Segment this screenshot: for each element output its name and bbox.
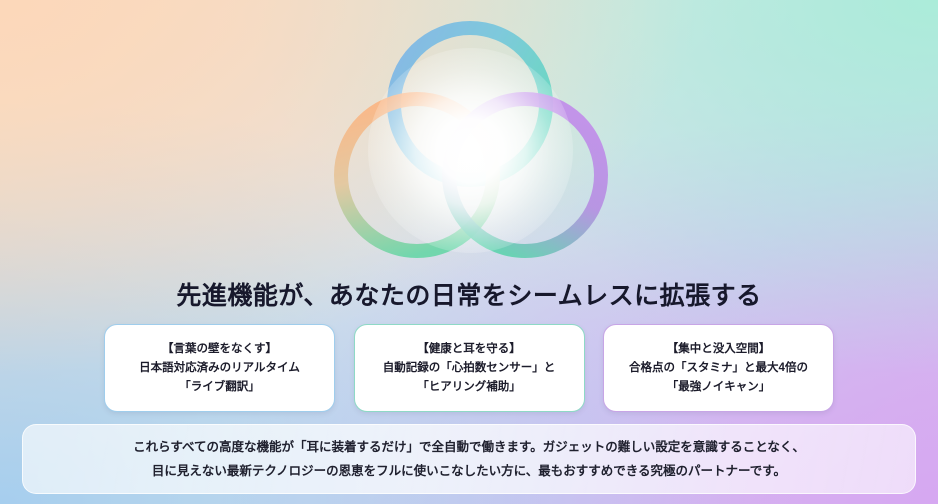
three-interlocking-rings-logo [329, 8, 611, 273]
feature-card-line: 「ヒアリング補助」 [417, 378, 521, 397]
summary-banner: これらすべての高度な機能が「耳に装着するだけ」で全自動で働きます。ガジェットの難… [22, 424, 916, 494]
feature-card-line: 【健康と耳を守る】 [417, 340, 521, 359]
hero-section [0, 0, 938, 275]
feature-card-line: 「ライブ翻訳」 [179, 378, 260, 397]
page-title: 先進機能が、あなたの日常をシームレスに拡張する [0, 276, 938, 312]
feature-card-line: 自動記録の「心拍数センサー」と [383, 359, 556, 378]
feature-card-line: 【言葉の壁をなくす】 [162, 340, 277, 359]
feature-card-line: 【集中と没入空間】 [667, 340, 771, 359]
feature-card-health[interactable]: 【健康と耳を守る】 自動記録の「心拍数センサー」と 「ヒアリング補助」 [354, 324, 585, 412]
summary-banner-line: 目に見えない最新テクノロジーの恩恵をフルに使いこなしたい方に、最もおすすめできる… [152, 459, 786, 483]
feature-card-line: 「最強ノイキャン」 [667, 378, 771, 397]
feature-card-focus[interactable]: 【集中と没入空間】 合格点の「スタミナ」と最大4倍の 「最強ノイキャン」 [603, 324, 834, 412]
promo-slide: 先進機能が、あなたの日常をシームレスに拡張する 【言葉の壁をなくす】 日本語対応… [0, 0, 938, 504]
summary-banner-line: これらすべての高度な機能が「耳に装着するだけ」で全自動で働きます。ガジェットの難… [133, 435, 805, 459]
feature-card-line: 日本語対応済みのリアルタイム [139, 359, 300, 378]
feature-card-list: 【言葉の壁をなくす】 日本語対応済みのリアルタイム 「ライブ翻訳」 【健康と耳を… [104, 324, 834, 412]
feature-card-line: 合格点の「スタミナ」と最大4倍の [629, 359, 808, 378]
feature-card-translation[interactable]: 【言葉の壁をなくす】 日本語対応済みのリアルタイム 「ライブ翻訳」 [104, 324, 335, 412]
